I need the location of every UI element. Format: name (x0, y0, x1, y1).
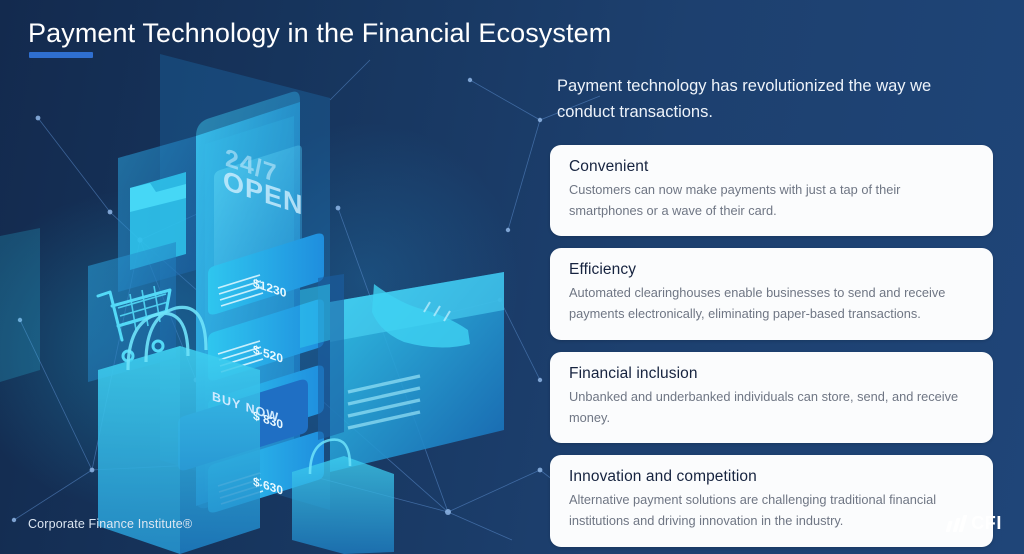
cfi-logo: CFI (948, 513, 1002, 534)
benefit-card-list: Convenient Customers can now make paymen… (550, 145, 993, 554)
benefit-card-body: Customers can now make payments with jus… (569, 180, 974, 221)
lede-paragraph: Payment technology has revolutionized th… (557, 74, 981, 125)
benefit-card-heading: Convenient (569, 158, 974, 176)
benefit-card-body: Unbanked and underbanked individuals can… (569, 387, 974, 428)
credit-card-icon (330, 272, 504, 472)
benefit-card[interactable]: Financial inclusion Unbanked and underba… (550, 352, 993, 443)
benefit-card-heading: Financial inclusion (569, 365, 974, 383)
benefit-card[interactable]: Innovation and competition Alternative p… (550, 455, 993, 546)
cfi-bars-icon (946, 515, 968, 532)
light-beam (0, 228, 40, 382)
footer-wordmark: Corporate Finance Institute® (28, 517, 192, 531)
benefit-card-heading: Innovation and competition (569, 468, 974, 486)
benefit-card-body: Alternative payment solutions are challe… (569, 490, 974, 531)
title-underline-accent (29, 52, 93, 58)
illustration-svg (0, 40, 545, 554)
page-title: Payment Technology in the Financial Ecos… (28, 18, 611, 49)
slide-canvas: 24/7 OPEN $1230 $ 520 $ 830 $ 630 BUY NO… (0, 0, 1024, 554)
benefit-card[interactable]: Convenient Customers can now make paymen… (550, 145, 993, 236)
cfi-logo-text: CFI (971, 513, 1002, 534)
benefit-card-heading: Efficiency (569, 261, 974, 279)
payment-illustration: 24/7 OPEN $1230 $ 520 $ 830 $ 630 BUY NO… (0, 40, 545, 554)
benefit-card[interactable]: Efficiency Automated clearinghouses enab… (550, 248, 993, 339)
benefit-card-body: Automated clearinghouses enable business… (569, 283, 974, 324)
